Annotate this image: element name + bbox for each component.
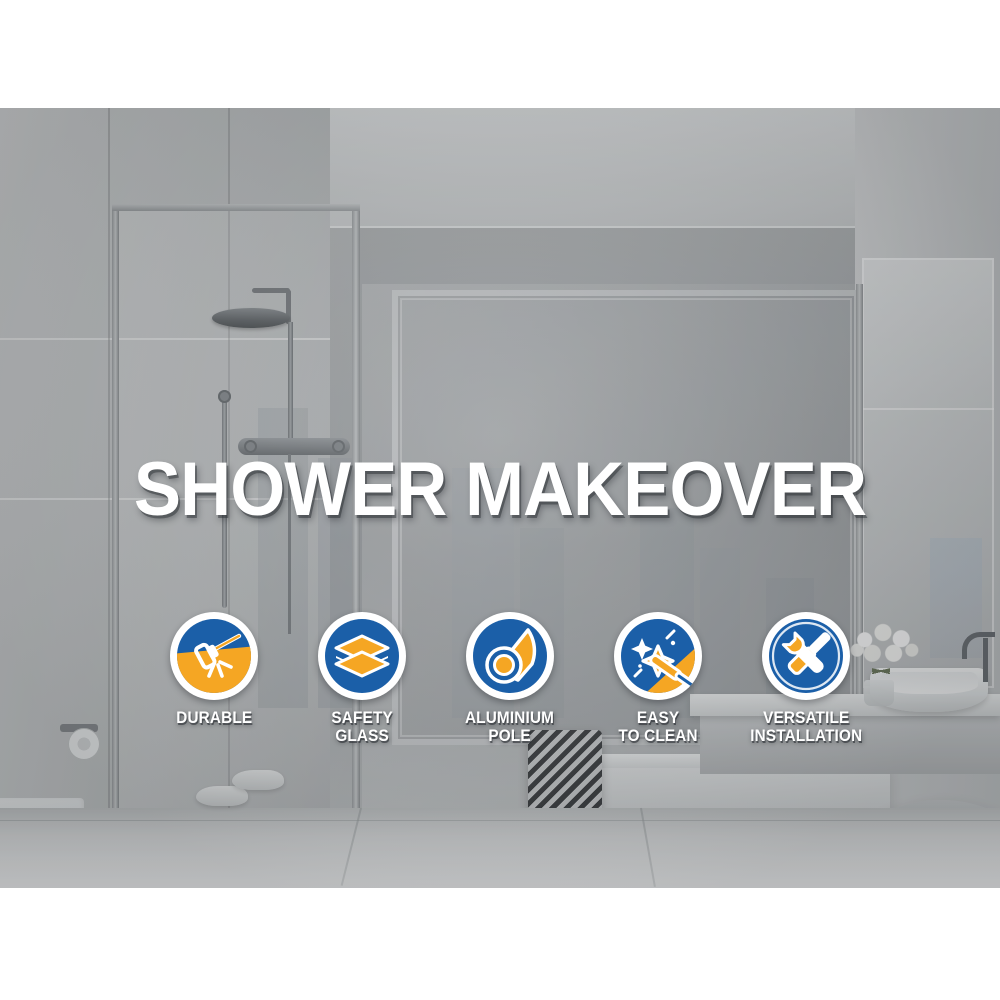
- feature-label: DURABLE: [176, 709, 252, 727]
- page-title: SHOWER MAKEOVER: [35, 452, 965, 528]
- feature-easy-to-clean[interactable]: EASY TO CLEAN: [594, 612, 722, 745]
- feature-label: VERSATILE INSTALLATION: [750, 709, 862, 745]
- screwdriver-wrench-icon: [762, 612, 850, 700]
- feature-durable[interactable]: DURABLE: [150, 612, 278, 727]
- feature-safety-glass[interactable]: SAFETY GLASS: [298, 612, 426, 745]
- promo-banner: SHOWER MAKEOVER: [0, 0, 1000, 1000]
- stacked-glass-layers-icon: [318, 612, 406, 700]
- pole-tube-icon: [466, 612, 554, 700]
- aluminium-pole-badge[interactable]: [466, 612, 554, 700]
- feature-aluminium-pole[interactable]: ALUMINIUM POLE: [446, 612, 574, 745]
- sparkle-squeegee-icon: [614, 612, 702, 700]
- feature-label: EASY TO CLEAN: [618, 709, 697, 745]
- durable-badge[interactable]: [170, 612, 258, 700]
- feature-label: ALUMINIUM POLE: [465, 709, 554, 745]
- feature-versatile-installation[interactable]: VERSATILE INSTALLATION: [742, 612, 870, 745]
- squeegee-icon: [170, 612, 258, 700]
- feature-list: DURABLE SAFETY GLASS: [150, 612, 870, 792]
- versatile-installation-badge[interactable]: [762, 612, 850, 700]
- safety-glass-badge[interactable]: [318, 612, 406, 700]
- easy-to-clean-badge[interactable]: [614, 612, 702, 700]
- feature-label: SAFETY GLASS: [331, 709, 392, 745]
